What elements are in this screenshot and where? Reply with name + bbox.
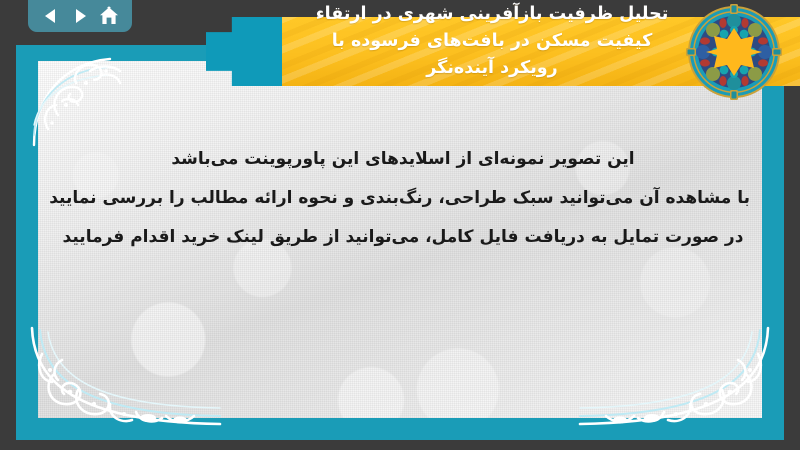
title-line-1: تحلیل ظرفیت بازآفرینی شهری در ارتقاء (266, 1, 718, 28)
title-banner: تحلیل ظرفیت بازآفرینی شهری در ارتقاء کیف… (206, 17, 800, 86)
navigation-bar (28, 0, 132, 32)
body-line-3: در صورت تمایل به دریافت فایل کامل، می‌تو… (56, 218, 750, 257)
slide-title: تحلیل ظرفیت بازآفرینی شهری در ارتقاء کیف… (266, 1, 718, 82)
title-line-3: رویکرد آینده‌نگر (266, 55, 718, 82)
medallion-icon (686, 4, 782, 100)
home-icon[interactable] (98, 5, 120, 27)
title-line-2: کیفیت مسکن در بافت‌های فرسوده با (266, 28, 718, 55)
slide-body-text: این تصویر نمونه‌ای از اسلایدهای این پاور… (56, 140, 750, 257)
slide-frame: این تصویر نمونه‌ای از اسلایدهای این پاور… (16, 45, 784, 440)
forward-icon[interactable] (69, 5, 91, 27)
body-line-1: این تصویر نمونه‌ای از اسلایدهای این پاور… (56, 140, 750, 179)
body-line-2: با مشاهده آن می‌توانید سبک طراحی، رنگ‌بن… (56, 179, 750, 218)
back-icon[interactable] (40, 5, 62, 27)
slide-viewer: این تصویر نمونه‌ای از اسلایدهای این پاور… (0, 0, 800, 450)
window-left-edge (0, 0, 16, 450)
